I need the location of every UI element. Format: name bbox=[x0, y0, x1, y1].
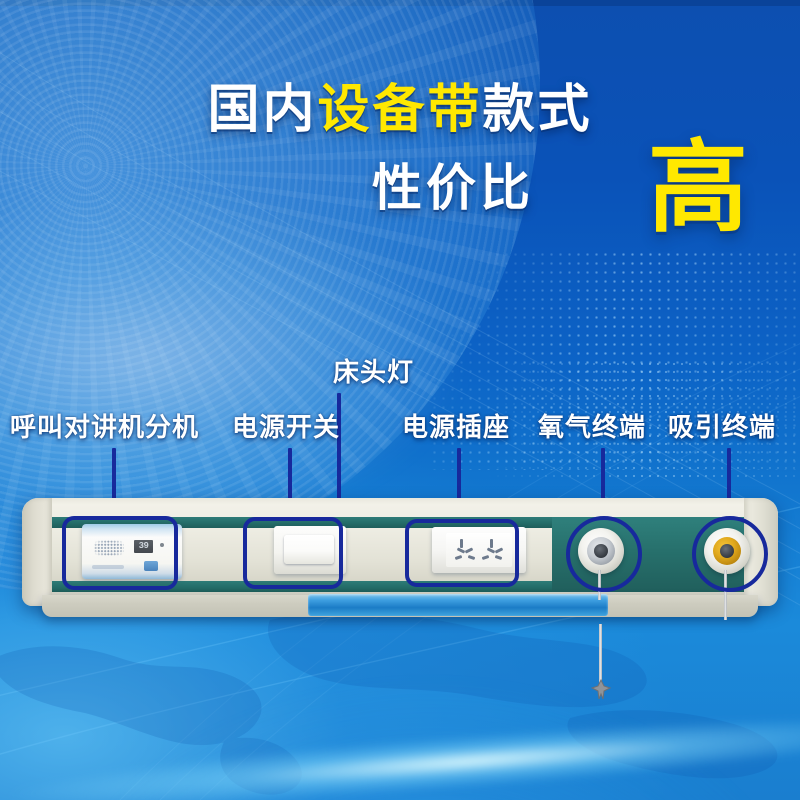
suction-pull-cord-lower[interactable] bbox=[599, 624, 602, 684]
headline-line-1: 国内设备带款式 bbox=[0, 84, 800, 136]
headline-part-2: 款式 bbox=[483, 81, 593, 139]
banner-stage: 国内设备带款式 性价比 高 呼叫对讲机分机 电源开关 床头灯 电源插座 氧气终端… bbox=[0, 0, 800, 800]
bedside-light-diffuser bbox=[308, 594, 608, 616]
callout-label-suction: 吸引终端 bbox=[668, 414, 776, 440]
pull-cord-handle-icon[interactable] bbox=[590, 679, 612, 701]
callout-label-power-socket: 电源插座 bbox=[402, 414, 510, 440]
headline-part-1: 国内 bbox=[207, 81, 317, 139]
headline-emphasis-char: 高 bbox=[648, 138, 748, 238]
highlight-oxygen bbox=[566, 516, 642, 592]
highlight-power-socket bbox=[405, 519, 519, 587]
callout-label-power-switch: 电源开关 bbox=[232, 414, 340, 440]
headline-highlight: 设备带 bbox=[317, 81, 482, 139]
headline-block: 国内设备带款式 bbox=[0, 84, 800, 136]
headline-line-2: 性价比 bbox=[372, 163, 534, 213]
callout-label-oxygen: 氧气终端 bbox=[538, 414, 646, 440]
highlight-power-switch bbox=[243, 517, 343, 589]
callout-label-intercom: 呼叫对讲机分机 bbox=[10, 414, 199, 440]
panel-end-cap-left bbox=[22, 498, 52, 606]
highlight-suction bbox=[692, 516, 768, 592]
highlight-intercom bbox=[62, 516, 178, 590]
callout-label-bedside-light: 床头灯 bbox=[333, 359, 414, 385]
